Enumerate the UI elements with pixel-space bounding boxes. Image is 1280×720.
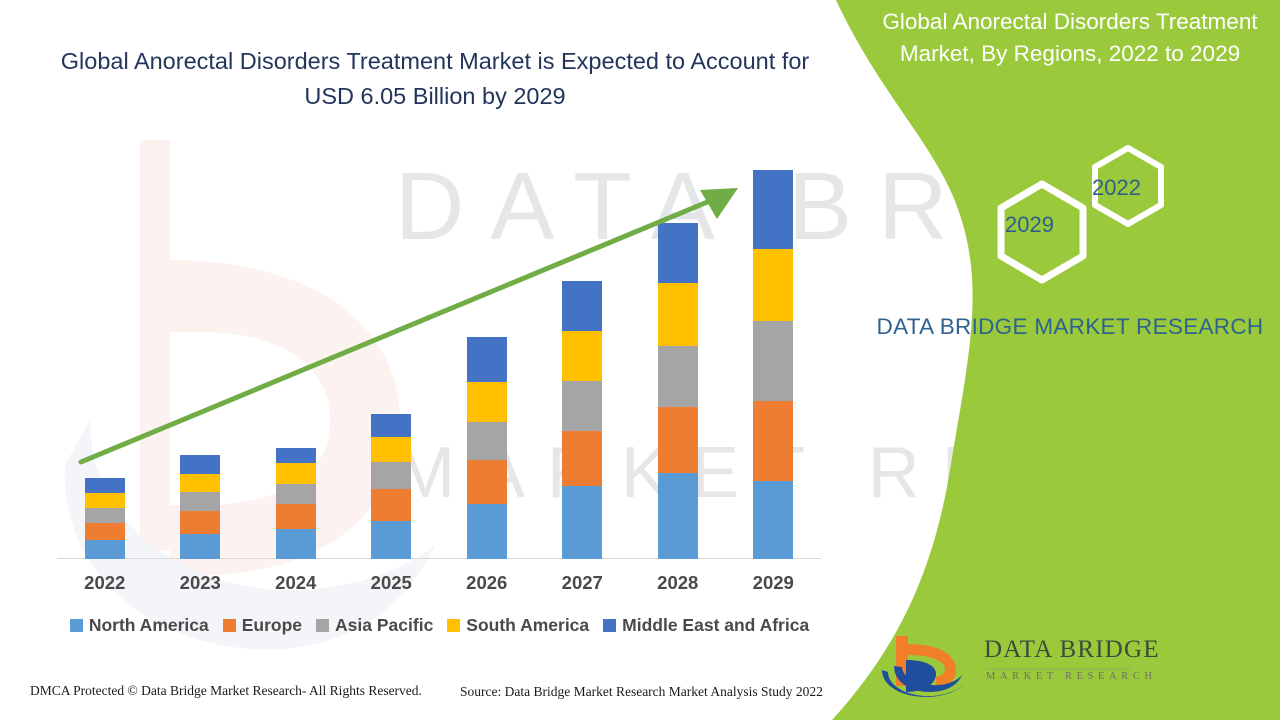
legend-swatch-icon <box>70 619 83 632</box>
bar-segment <box>562 331 602 381</box>
x-axis-label-2025: 2025 <box>356 572 426 594</box>
page-title: Global Anorectal Disorders Treatment Mar… <box>40 44 830 114</box>
stacked-bar-chart <box>57 170 821 559</box>
bar-2028 <box>658 223 698 559</box>
bar-segment <box>371 462 411 489</box>
data-bridge-mark-icon <box>876 630 976 700</box>
logo-wordmark: DATA BRIDGE <box>984 636 1160 664</box>
bar-segment <box>753 481 793 559</box>
legend-item[interactable]: North America <box>70 615 209 636</box>
bar-segment <box>753 170 793 249</box>
hexagon-group: 2022 2029 <box>980 132 1180 292</box>
footer: DMCA Protected © Data Bridge Market Rese… <box>0 683 840 707</box>
bar-segment <box>371 414 411 437</box>
x-axis-label-2029: 2029 <box>738 572 808 594</box>
bar-segment <box>180 534 220 559</box>
bar-segment <box>467 460 507 504</box>
bar-segment <box>658 283 698 346</box>
bar-segment <box>467 337 507 382</box>
bar-segment <box>85 508 125 523</box>
bar-2029 <box>753 170 793 559</box>
x-axis-label-2022: 2022 <box>70 572 140 594</box>
bar-segment <box>658 407 698 473</box>
bar-segment <box>180 511 220 534</box>
bar-segment <box>658 346 698 408</box>
legend-label: Europe <box>242 615 302 636</box>
footer-source-text: Source: Data Bridge Market Research Mark… <box>460 684 823 700</box>
bar-segment <box>276 448 316 463</box>
legend-swatch-icon <box>447 619 460 632</box>
bar-segment <box>753 321 793 401</box>
legend-item[interactable]: Middle East and Africa <box>603 615 809 636</box>
legend-swatch-icon <box>223 619 236 632</box>
logo-subtitle: MARKET RESEARCH <box>986 671 1157 682</box>
bar-segment <box>371 521 411 559</box>
bar-segment <box>85 493 125 508</box>
legend-label: Middle East and Africa <box>622 615 809 636</box>
bar-2024 <box>276 448 316 559</box>
legend-label: South America <box>466 615 589 636</box>
x-axis-label-2026: 2026 <box>452 572 522 594</box>
bar-segment <box>467 422 507 460</box>
x-axis-label-2027: 2027 <box>547 572 617 594</box>
chart-legend: North AmericaEuropeAsia PacificSouth Ame… <box>57 615 822 636</box>
bar-segment <box>371 437 411 462</box>
x-axis-label-2024: 2024 <box>261 572 331 594</box>
bar-segment <box>85 523 125 540</box>
panel-brand-text: DATA BRIDGE MARKET RESEARCH <box>870 310 1270 343</box>
legend-swatch-icon <box>603 619 616 632</box>
legend-swatch-icon <box>316 619 329 632</box>
footer-dmca-text: DMCA Protected © Data Bridge Market Rese… <box>30 683 422 699</box>
bar-segment <box>562 486 602 559</box>
bar-segment <box>658 223 698 282</box>
bar-segment <box>276 504 316 529</box>
legend-item[interactable]: South America <box>447 615 589 636</box>
bar-segment <box>562 431 602 486</box>
bar-segment <box>276 463 316 484</box>
bar-2025 <box>371 414 411 559</box>
legend-item[interactable]: Europe <box>223 615 302 636</box>
bar-segment <box>562 381 602 431</box>
bar-2022 <box>85 478 125 559</box>
bar-segment <box>753 249 793 321</box>
chart-x-axis-labels: 20222023202420252026202720282029 <box>57 572 821 600</box>
bar-segment <box>180 455 220 474</box>
data-bridge-logo: DATA BRIDGE MARKET RESEARCH <box>876 630 1276 702</box>
bar-segment <box>371 489 411 521</box>
bar-segment <box>180 492 220 511</box>
bar-segment <box>658 473 698 559</box>
bar-segment <box>753 401 793 480</box>
bar-2023 <box>180 455 220 559</box>
legend-item[interactable]: Asia Pacific <box>316 615 433 636</box>
bar-segment <box>85 478 125 493</box>
bar-2027 <box>562 281 602 559</box>
bar-segment <box>276 484 316 505</box>
bar-segment <box>467 504 507 559</box>
logo-divider <box>986 668 1131 670</box>
legend-label: Asia Pacific <box>335 615 433 636</box>
infographic-page: DATA BRIDGE MARKET RESEARCH Global Anore… <box>0 0 1280 720</box>
bar-2026 <box>467 337 507 559</box>
green-panel-content: Global Anorectal Disorders Treatment Mar… <box>860 0 1280 720</box>
x-axis-label-2028: 2028 <box>643 572 713 594</box>
panel-title: Global Anorectal Disorders Treatment Mar… <box>860 6 1280 70</box>
bar-segment <box>276 529 316 559</box>
legend-label: North America <box>89 615 209 636</box>
bar-segment <box>562 281 602 331</box>
bar-segment <box>85 540 125 559</box>
hexagon-label-2022: 2022 <box>1092 175 1141 201</box>
bar-segment <box>180 474 220 493</box>
x-axis-label-2023: 2023 <box>165 572 235 594</box>
bar-segment <box>467 382 507 422</box>
hexagon-label-2029: 2029 <box>1005 212 1054 238</box>
